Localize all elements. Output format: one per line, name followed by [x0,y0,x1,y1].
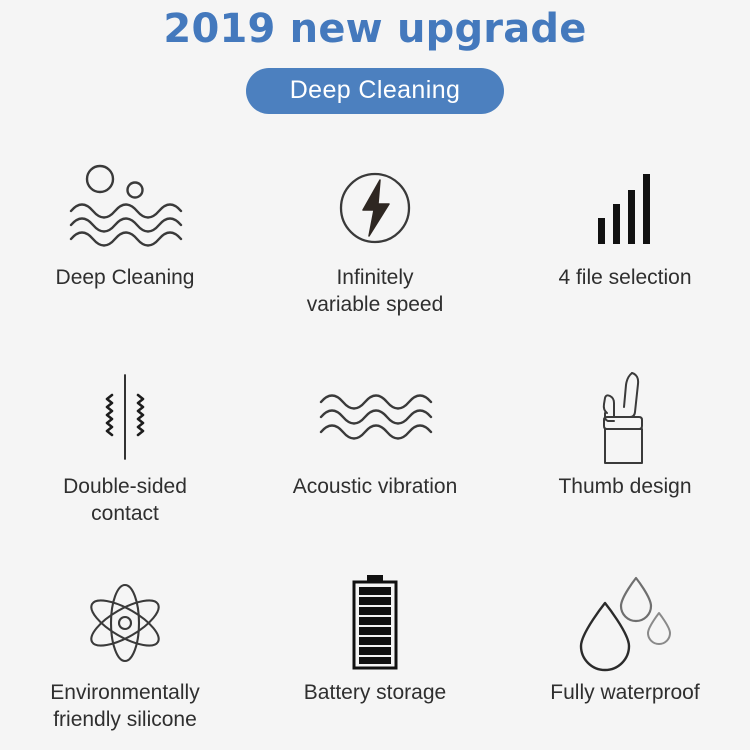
feature-label: Battery storage [304,679,446,706]
water-waves-bubbles-icon [63,158,187,258]
water-droplets-icon [573,573,677,673]
badge-container: Deep Cleaning [0,68,750,114]
atom-icon [82,573,168,673]
feature-item-file-selection: 4 file selection [500,140,750,343]
thumbs-up-icon [592,367,658,467]
feature-label: Thumb design [558,473,691,500]
feature-label: Fully waterproof [550,679,699,706]
feature-item-thumb-design: Thumb design [500,343,750,546]
product-feature-infographic: 2019 new upgrade Deep Cleaning Deep Clea… [0,0,750,750]
feature-item-variable-speed: Infinitely variable speed [250,140,500,343]
feature-label: Deep Cleaning [56,264,195,291]
header: 2019 new upgrade Deep Cleaning [0,0,750,114]
deep-cleaning-badge: Deep Cleaning [246,68,505,114]
feature-label: Acoustic vibration [293,473,458,500]
signal-bars-icon [594,158,656,258]
battery-full-icon [346,573,404,673]
feature-item-deep-cleaning: Deep Cleaning [0,140,250,343]
feature-item-battery-storage: Battery storage [250,547,500,750]
feature-label: Environmentally friendly silicone [50,679,199,733]
sound-waves-icon [313,367,437,467]
feature-item-double-sided-contact: Double-sided contact [0,343,250,546]
page-title: 2019 new upgrade [0,2,750,52]
feature-item-acoustic-vibration: Acoustic vibration [250,343,500,546]
feature-label: Infinitely variable speed [307,264,444,318]
feature-label: 4 file selection [558,264,691,291]
feature-item-eco-silicone: Environmentally friendly silicone [0,547,250,750]
feature-label: Double-sided contact [63,473,187,527]
feature-grid: Deep Cleaning Infinitely variable speed [0,140,750,750]
feature-item-fully-waterproof: Fully waterproof [500,547,750,750]
double-sided-contact-icon [88,367,162,467]
lightning-bolt-circle-icon [333,158,417,258]
